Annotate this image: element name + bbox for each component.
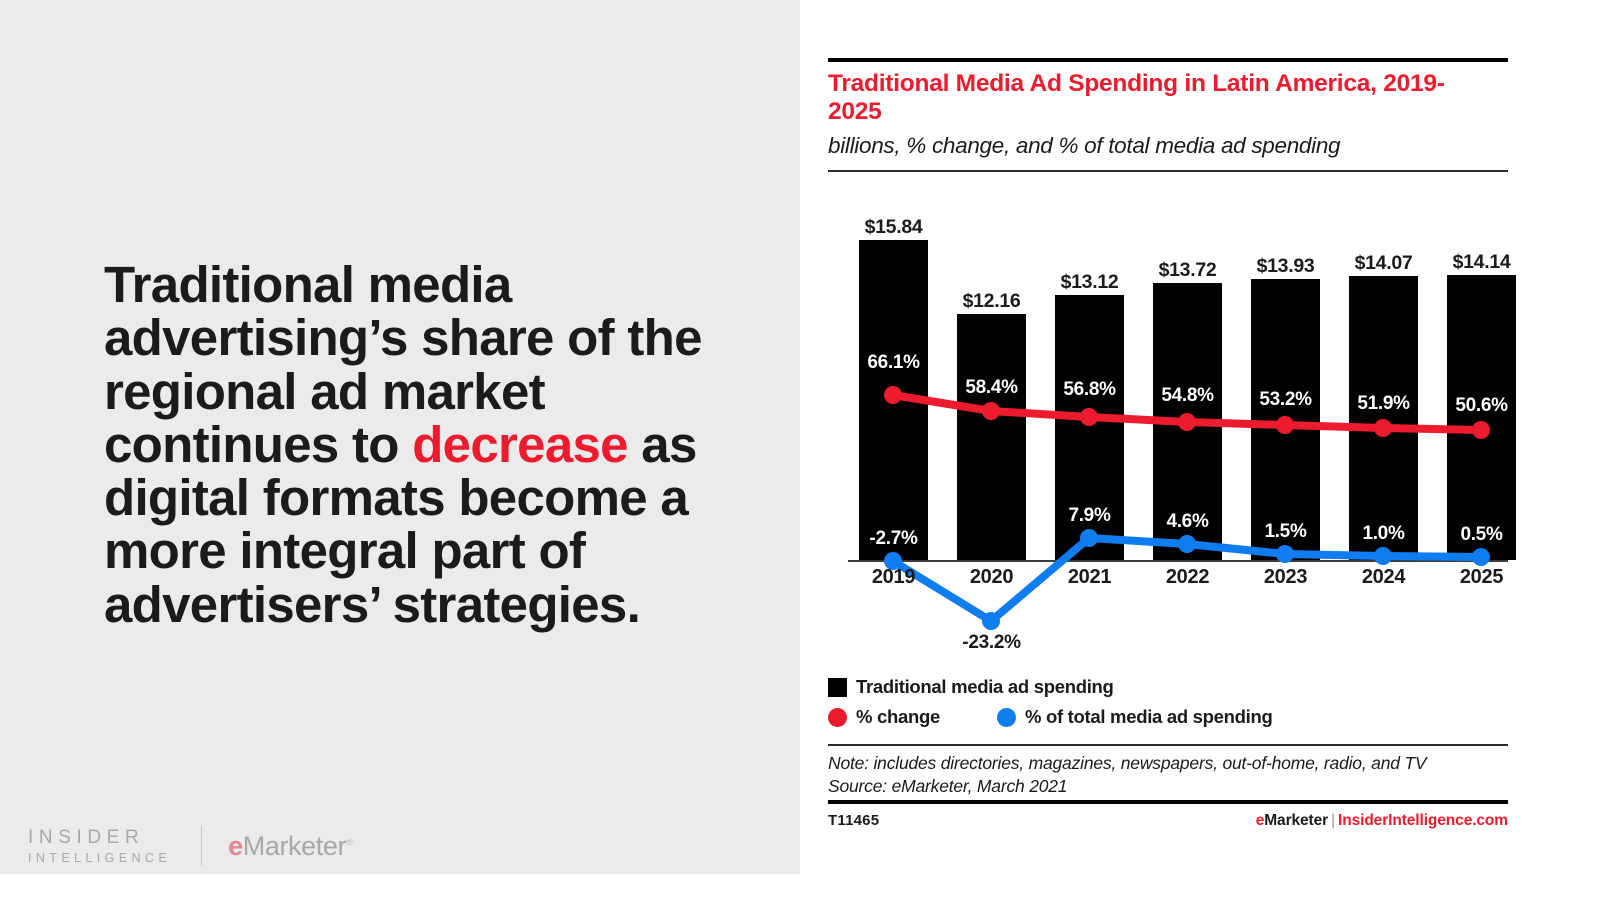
red-point-2022 xyxy=(1178,413,1196,431)
chart-legend: Traditional media ad spending % change %… xyxy=(828,676,1508,736)
blue-label-2019: -2.7% xyxy=(839,528,948,550)
red-label-2024: 51.9% xyxy=(1329,393,1438,415)
logo-divider xyxy=(201,826,202,866)
red-label-2020: 58.4% xyxy=(937,377,1046,399)
blue-label-2023: 1.5% xyxy=(1231,521,1340,543)
red-label-2021: 56.8% xyxy=(1035,379,1144,401)
slide-canvas: Traditional media advertising’s share of… xyxy=(0,0,1600,900)
registered-mark-icon: ® xyxy=(346,837,352,847)
logo-intelligence-text: INTELLIGENCE xyxy=(28,850,171,866)
red-point-2019 xyxy=(884,386,902,404)
chart-panel: Traditional Media Ad Spending in Latin A… xyxy=(800,0,1600,900)
legend-label-pct-of-total: % of total media ad spending xyxy=(1025,706,1273,728)
legend-label-pct-change: % change xyxy=(856,706,940,728)
footer-brand: eMarketer|InsiderIntelligence.com xyxy=(1256,812,1508,830)
red-point-2021 xyxy=(1080,408,1098,426)
x-tick-2023: 2023 xyxy=(1231,566,1340,589)
red-point-2024 xyxy=(1374,419,1392,437)
report-id: T11465 xyxy=(828,812,879,829)
note-block: Note: includes directories, magazines, n… xyxy=(828,752,1518,798)
left-narrative-panel: Traditional media advertising’s share of… xyxy=(0,0,800,874)
blue-point-2020 xyxy=(982,612,1000,630)
emarketer-logo: eMarketer® xyxy=(228,831,352,862)
blue-point-2024 xyxy=(1374,547,1392,565)
red-point-2020 xyxy=(982,402,1000,420)
footer-brand-separator: | xyxy=(1328,812,1338,829)
chart-plot-area: $15.84 $12.16 $13.12 $13.72 $13.93 $14.0… xyxy=(800,0,1600,680)
insider-intelligence-emarketer-logo: INSIDER INTELLIGENCE eMarketer® xyxy=(28,824,352,868)
blue-label-2024: 1.0% xyxy=(1329,523,1438,545)
x-tick-2024: 2024 xyxy=(1329,566,1438,589)
logo-insider-text: INSIDER xyxy=(28,826,171,850)
blue-label-2021: 7.9% xyxy=(1035,505,1144,527)
headline-text: Traditional media advertising’s share of… xyxy=(104,258,729,631)
footer-brand-e: e xyxy=(1256,812,1265,829)
emarketer-logo-e: e xyxy=(228,831,243,861)
blue-point-2021 xyxy=(1080,529,1098,547)
legend-square-swatch-icon xyxy=(828,678,847,697)
red-label-2025: 50.6% xyxy=(1427,395,1536,417)
red-label-2022: 54.8% xyxy=(1133,385,1242,407)
legend-red-dot-icon xyxy=(828,708,847,727)
legend-row-1: Traditional media ad spending xyxy=(828,676,1508,698)
note-text: Note: includes directories, magazines, n… xyxy=(828,752,1518,775)
legend-item-pct-of-total: % of total media ad spending xyxy=(997,706,1273,728)
insider-intelligence-logo: INSIDER INTELLIGENCE xyxy=(28,826,171,866)
note-rule xyxy=(828,744,1508,746)
legend-blue-dot-icon xyxy=(997,708,1016,727)
x-tick-2019: 2019 xyxy=(839,566,948,589)
legend-item-pct-change: % change xyxy=(828,706,940,728)
emarketer-logo-rest: Marketer xyxy=(243,831,346,861)
red-point-2023 xyxy=(1276,416,1294,434)
footer-row: T11465 eMarketer|InsiderIntelligence.com xyxy=(828,812,1508,830)
red-point-2025 xyxy=(1472,421,1490,439)
blue-point-2022 xyxy=(1178,535,1196,553)
red-label-2019: 66.1% xyxy=(839,352,948,374)
x-tick-2020: 2020 xyxy=(937,566,1046,589)
blue-label-2020: -23.2% xyxy=(937,632,1046,654)
footer-brand-marketer: Marketer xyxy=(1264,812,1328,829)
legend-item-traditional-media: Traditional media ad spending xyxy=(828,676,1114,698)
blue-point-2025 xyxy=(1472,548,1490,566)
source-text: Source: eMarketer, March 2021 xyxy=(828,775,1518,798)
legend-row-2: % change % of total media ad spending xyxy=(828,706,1508,728)
red-label-2023: 53.2% xyxy=(1231,389,1340,411)
blue-label-2022: 4.6% xyxy=(1133,511,1242,533)
footer-brand-site[interactable]: InsiderIntelligence.com xyxy=(1338,812,1508,829)
x-tick-2022: 2022 xyxy=(1133,566,1242,589)
x-tick-2021: 2021 xyxy=(1035,566,1144,589)
x-tick-2025: 2025 xyxy=(1427,566,1536,589)
footer-rule xyxy=(828,800,1508,804)
legend-label-traditional-media: Traditional media ad spending xyxy=(856,676,1114,698)
headline-accent-word: decrease xyxy=(412,416,628,473)
blue-point-2023 xyxy=(1276,545,1294,563)
blue-label-2025: 0.5% xyxy=(1427,524,1536,546)
